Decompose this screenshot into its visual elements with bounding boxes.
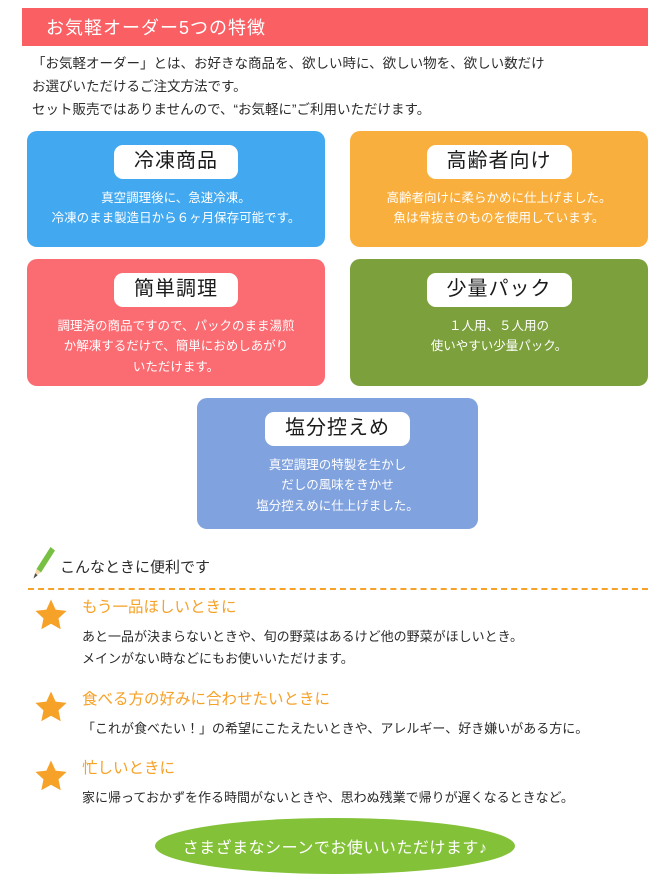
use-case-line: 「これが食べたい！」の希望にこたえたいときや、アレルギー、好き嫌いがある方に。 [82,718,650,740]
feature-card-line: 真空調理の特製を生かし [256,455,419,475]
intro-line-2: お選びいただけるご注文方法です。 [32,75,652,98]
use-case-line: メインがない時などにもお使いいただけます。 [82,648,650,670]
section-divider [28,588,648,590]
page-header-bar: お気軽オーダー5つの特徴 [22,8,648,46]
convenient-section-heading: こんなときに便利です [30,546,648,580]
feature-card-line: 塩分控えめに仕上げました。 [256,496,419,516]
section-heading-label: こんなときに便利です [60,556,210,580]
feature-card-frozen: 冷凍商品 真空調理後に、急速冷凍。 冷凍のまま製造日から６ヶ月保存可能です。 [27,131,325,247]
feature-card-easy-cooking: 簡単調理 調理済の商品ですので、パックのまま湯煎 か解凍するだけで、簡単におめし… [27,259,325,386]
feature-card-line: か解凍するだけで、簡単におめしあがり [57,336,294,356]
intro-paragraph: 「お気軽オーダー」とは、お好きな商品を、欲しい時に、欲しい物を、欲しい数だけ お… [32,52,652,122]
feature-card-small-pack: 少量パック １人用、５人用の 使いやすい少量パック。 [350,259,648,386]
use-case-title: 忙しいときに [82,759,650,780]
footer-callout-ellipse: さまざまなシーンでお使いいただけます♪ [155,818,515,874]
feature-card-row-3: 塩分控えめ 真空調理の特製を生かし だしの風味をきかせ 塩分控えめに仕上げました… [27,398,648,529]
feature-card-line: 調理済の商品ですので、パックのまま湯煎 [57,316,294,336]
feature-card-low-salt: 塩分控えめ 真空調理の特製を生かし だしの風味をきかせ 塩分控えめに仕上げました… [197,398,478,529]
use-case-text: 「これが食べたい！」の希望にこたえたいときや、アレルギー、好き嫌いがある方に。 [82,718,650,740]
star-icon [34,690,68,724]
feature-card-badge: 少量パック [427,273,572,307]
use-case-item: 忙しいときに 家に帰っておかずを作る時間がないときや、思わぬ残業で帰りが遅くなる… [28,759,650,809]
use-case-text: 家に帰っておかずを作る時間がないときや、思わぬ残業で帰りが遅くなるときなど。 [82,787,650,809]
feature-card-line: 真空調理後に、急速冷凍。 [52,188,301,208]
feature-card-row-1: 冷凍商品 真空調理後に、急速冷凍。 冷凍のまま製造日から６ヶ月保存可能です。 高… [27,131,648,247]
star-icon [34,759,68,793]
use-case-title: もう一品ほしいときに [82,598,650,619]
feature-card-line: １人用、５人用の [431,316,568,336]
feature-card-line: いただけます。 [57,357,294,377]
feature-card-badge: 高齢者向け [427,145,572,179]
feature-card-badge: 簡単調理 [114,273,238,307]
feature-card-body: 真空調理の特製を生かし だしの風味をきかせ 塩分控えめに仕上げました。 [256,455,419,516]
feature-card-badge: 塩分控えめ [265,412,410,446]
feature-card-body: １人用、５人用の 使いやすい少量パック。 [431,316,568,357]
feature-card-badge: 冷凍商品 [114,145,238,179]
use-case-title: 食べる方の好みに合わせたいときに [82,690,650,711]
star-icon [34,598,68,632]
page-title: お気軽オーダー5つの特徴 [22,14,266,40]
feature-card-body: 高齢者向けに柔らかめに仕上げました。 魚は骨抜きのものを使用しています。 [386,188,611,229]
feature-card-grid: 冷凍商品 真空調理後に、急速冷凍。 冷凍のまま製造日から６ヶ月保存可能です。 高… [27,131,648,541]
pencil-icon [30,546,56,580]
intro-line-1: 「お気軽オーダー」とは、お好きな商品を、欲しい時に、欲しい物を、欲しい数だけ [32,52,652,75]
feature-card-body: 真空調理後に、急速冷凍。 冷凍のまま製造日から６ヶ月保存可能です。 [52,188,301,229]
use-case-line: 家に帰っておかずを作る時間がないときや、思わぬ残業で帰りが遅くなるときなど。 [82,787,650,809]
feature-card-row-2: 簡単調理 調理済の商品ですので、パックのまま湯煎 か解凍するだけで、簡単におめし… [27,259,648,386]
intro-line-3: セット販売ではありませんので、“お気軽に”ご利用いただけます。 [32,98,652,121]
feature-card-line: 使いやすい少量パック。 [431,336,568,356]
use-case-text: あと一品が決まらないときや、旬の野菜はあるけど他の野菜がほしいとき。 メインがな… [82,626,650,671]
use-case-item: もう一品ほしいときに あと一品が決まらないときや、旬の野菜はあるけど他の野菜がほ… [28,598,650,671]
use-case-list: もう一品ほしいときに あと一品が決まらないときや、旬の野菜はあるけど他の野菜がほ… [28,598,650,828]
feature-card-line: 魚は骨抜きのものを使用しています。 [386,208,611,228]
footer-callout-label: さまざまなシーンでお使いいただけます♪ [183,834,488,858]
feature-card-line: 高齢者向けに柔らかめに仕上げました。 [386,188,611,208]
feature-card-elderly: 高齢者向け 高齢者向けに柔らかめに仕上げました。 魚は骨抜きのものを使用していま… [350,131,648,247]
feature-card-line: だしの風味をきかせ [256,475,419,495]
use-case-item: 食べる方の好みに合わせたいときに 「これが食べたい！」の希望にこたえたいときや、… [28,690,650,740]
feature-card-body: 調理済の商品ですので、パックのまま湯煎 か解凍するだけで、簡単におめしあがり い… [57,316,294,377]
feature-card-line: 冷凍のまま製造日から６ヶ月保存可能です。 [52,208,301,228]
use-case-line: あと一品が決まらないときや、旬の野菜はあるけど他の野菜がほしいとき。 [82,626,650,648]
